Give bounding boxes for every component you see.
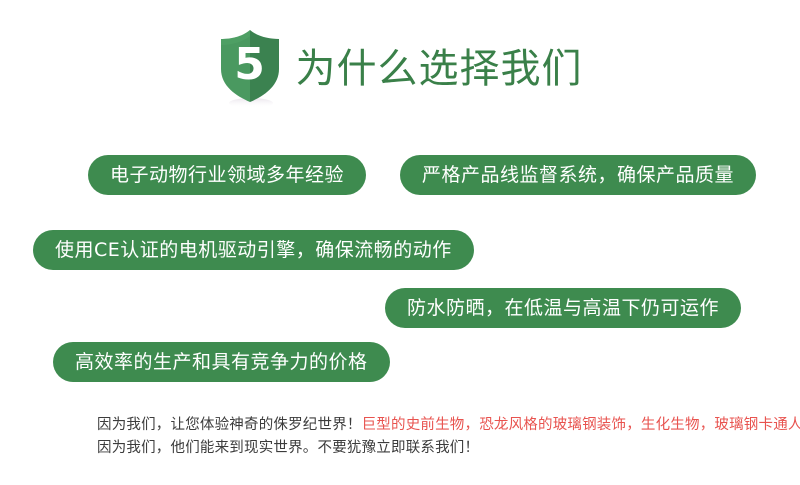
page-title: 为什么选择我们	[296, 49, 583, 89]
feature-list: 电子动物行业领域多年经验 严格产品线监督系统，确保产品质量 使用CE认证的电机驱…	[0, 150, 800, 395]
feature-pill-1[interactable]: 电子动物行业领域多年经验	[88, 155, 366, 195]
feature-pill-4[interactable]: 防水防晒，在低温与高温下仍可运作	[385, 288, 741, 328]
feature-pill-3[interactable]: 使用CE认证的电机驱动引擎，确保流畅的动作	[33, 230, 474, 270]
promo-banner: 5 为什么选择我们 电子动物行业领域多年经验 严格产品线监督系统，确保产品质量 …	[0, 0, 800, 485]
header: 5 为什么选择我们	[0, 24, 800, 114]
feature-pill-5[interactable]: 高效率的生产和具有竞争力的价格	[53, 342, 390, 382]
shield-badge: 5	[218, 29, 282, 109]
footer-paragraph: 因为我们，让您体验神奇的侏罗纪世界！巨型的史前生物，恐龙风格的玻璃钢装饰，生化生…	[97, 414, 757, 460]
feature-pill-2[interactable]: 严格产品线监督系统，确保产品质量	[400, 155, 756, 195]
footer-line-1-plain: 因为我们，让您体验神奇的侏罗纪世界！	[97, 417, 362, 433]
footer-line-1: 因为我们，让您体验神奇的侏罗纪世界！巨型的史前生物，恐龙风格的玻璃钢装饰，生化生…	[97, 414, 757, 437]
badge-number: 5	[218, 29, 282, 101]
footer-line-2: 因为我们，他们能来到现实世界。不要犹豫立即联系我们！	[97, 437, 757, 460]
footer-line-1-highlight: 巨型的史前生物，恐龙风格的玻璃钢装饰，生化生物，玻璃钢卡通人物	[362, 417, 800, 433]
